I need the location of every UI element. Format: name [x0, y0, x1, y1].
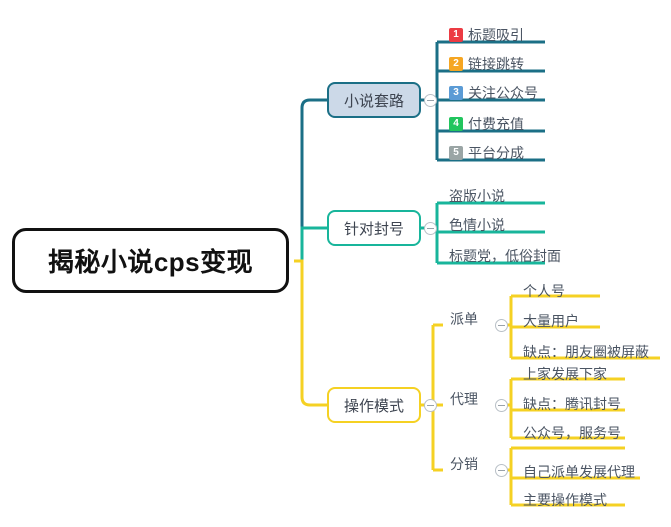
badge-number: 4: [449, 117, 463, 131]
leaf-node[interactable]: 主要操作模式: [523, 490, 607, 512]
collapse-toggle-fenxiao[interactable]: [495, 464, 508, 477]
badge-number: 3: [449, 86, 463, 100]
branch-label: 小说套路: [344, 90, 404, 111]
leaf-label: 个人号: [523, 281, 565, 301]
leaf-label: 上家发展下家: [523, 364, 607, 384]
leaf-label: 关注公众号: [468, 83, 538, 103]
leaf-node[interactable]: 2 链接跳转: [449, 54, 524, 76]
leaf-label: 链接跳转: [468, 54, 524, 74]
leaf-label: 缺点：朋友圈被屏蔽: [523, 342, 649, 362]
branch-label: 操作模式: [344, 395, 404, 416]
leaf-label: 大量用户: [523, 311, 579, 331]
leaf-node[interactable]: 缺点：腾讯封号: [523, 394, 621, 416]
leaf-label: 标题吸引: [468, 25, 524, 45]
leaf-node[interactable]: 4 付费充值: [449, 114, 524, 136]
leaf-node[interactable]: 自己派单发展代理: [523, 462, 635, 484]
collapse-toggle-paidan[interactable]: [495, 319, 508, 332]
collapse-toggle-daili[interactable]: [495, 399, 508, 412]
leaf-label: 主要操作模式: [523, 490, 607, 510]
badge-number: 2: [449, 57, 463, 71]
leaf-node[interactable]: 缺点：朋友圈被屏蔽: [523, 342, 649, 364]
root-label: 揭秘小说cps变现: [48, 242, 253, 279]
leaf-label: 盗版小说: [449, 186, 505, 206]
subbranch-label-daili[interactable]: 代理: [450, 389, 478, 409]
leaf-node[interactable]: 上家发展下家: [523, 364, 607, 386]
leaf-label: 公众号，服务号: [523, 423, 621, 443]
collapse-toggle-xiaoshuotaolu[interactable]: [424, 94, 437, 107]
root-node[interactable]: 揭秘小说cps变现: [12, 228, 289, 293]
leaf-label: 标题党，低俗封面: [449, 246, 561, 266]
branch-node-zhenduifenghao[interactable]: 针对封号: [327, 210, 421, 246]
leaf-label: 缺点：腾讯封号: [523, 394, 621, 414]
leaf-node[interactable]: 5 平台分成: [449, 143, 524, 165]
leaf-node[interactable]: 盗版小说: [449, 186, 505, 208]
leaf-label: 平台分成: [468, 143, 524, 163]
collapse-toggle-zhenduifenghao[interactable]: [424, 222, 437, 235]
leaf-label: 付费充值: [468, 114, 524, 134]
branch-node-caozuomoshi[interactable]: 操作模式: [327, 387, 421, 423]
leaf-node[interactable]: 标题党，低俗封面: [449, 246, 561, 268]
mindmap-canvas: 揭秘小说cps变现 小说套路 1 标题吸引 2 链接跳转 3 关注公众号 4 付…: [0, 0, 671, 527]
leaf-node[interactable]: 大量用户: [523, 311, 579, 333]
leaf-label: 自己派单发展代理: [523, 462, 635, 482]
subbranch-label-paidan[interactable]: 派单: [450, 309, 478, 329]
branch-node-xiaoshuotaolu[interactable]: 小说套路: [327, 82, 421, 118]
badge-number: 5: [449, 146, 463, 160]
leaf-label: 色情小说: [449, 215, 505, 235]
collapse-toggle-caozuomoshi[interactable]: [424, 399, 437, 412]
subbranch-label-fenxiao[interactable]: 分销: [450, 454, 478, 474]
badge-number: 1: [449, 28, 463, 42]
leaf-node[interactable]: 色情小说: [449, 215, 505, 237]
leaf-node[interactable]: 公众号，服务号: [523, 423, 621, 445]
leaf-node[interactable]: 3 关注公众号: [449, 83, 538, 105]
leaf-node[interactable]: 个人号: [523, 281, 565, 303]
leaf-node[interactable]: 1 标题吸引: [449, 25, 524, 47]
branch-label: 针对封号: [344, 218, 404, 239]
